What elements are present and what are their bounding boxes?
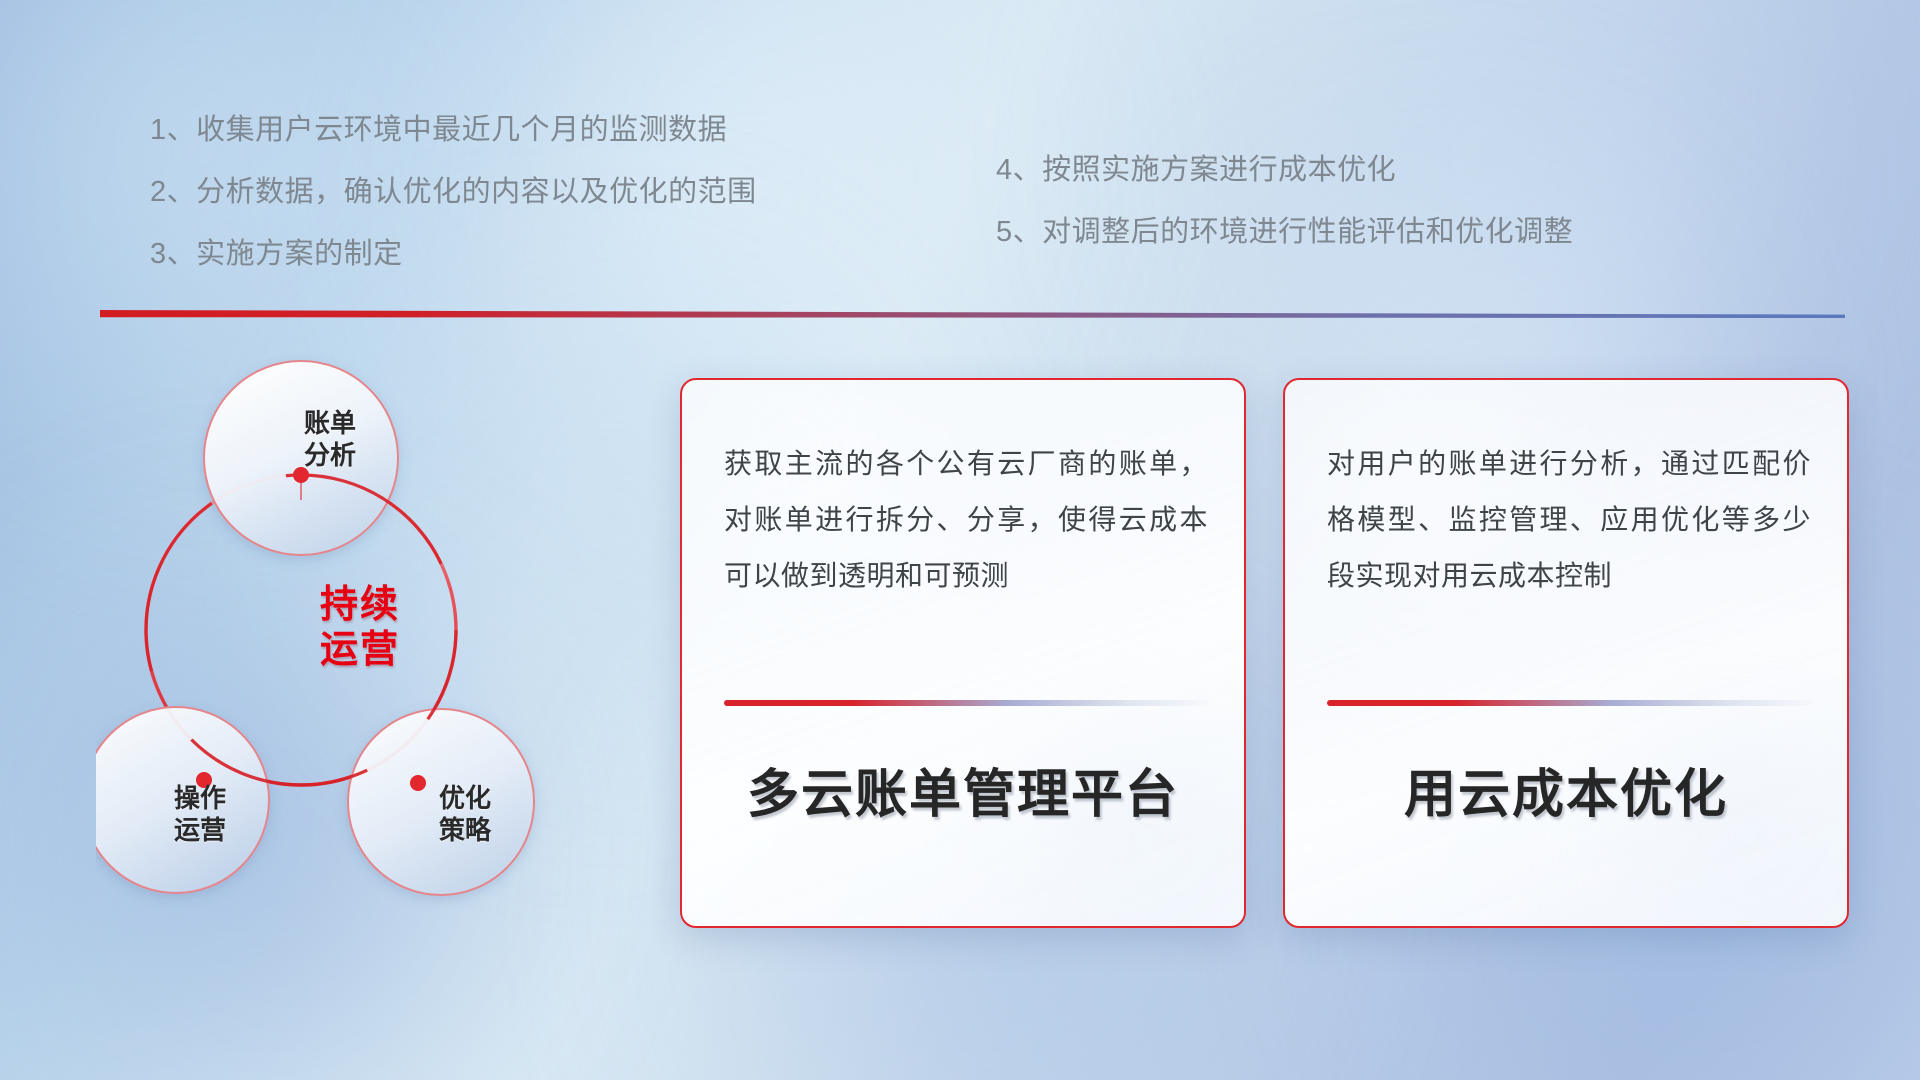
venn-label-top-line1: 账单: [250, 408, 410, 440]
steps-list-left: 1、收集用户云环境中最近几个月的监测数据 2、分析数据，确认优化的内容以及优化的…: [150, 116, 757, 269]
venn-center-label-line2: 运营: [260, 628, 460, 673]
venn-label-top: 账单 分析: [250, 408, 410, 471]
venn-label-top-line2: 分析: [250, 440, 410, 472]
venn-label-left-line2: 运营: [120, 815, 280, 847]
card-title: 用云成本优化: [1285, 752, 1847, 827]
venn-label-left-line1: 操作: [120, 783, 280, 815]
venn-label-right-line1: 优化: [385, 783, 545, 815]
venn-label-left: 操作 运营: [120, 783, 280, 846]
venn-center-label: 持续 运营: [260, 583, 460, 673]
card-description: 获取主流的各个公有云厂商的账单，对账单进行拆分、分享，使得云成本可以做到透明和可…: [724, 436, 1208, 604]
card-description: 对用户的账单进行分析，通过匹配价格模型、监控管理、应用优化等多少段实现对用云成本…: [1327, 436, 1811, 604]
section-divider: [100, 309, 1845, 318]
steps-list-right: 4、按照实施方案进行成本优化 5、对调整后的环境进行性能评估和优化调整: [996, 156, 1573, 247]
step-item: 2、分析数据，确认优化的内容以及优化的范围: [150, 178, 757, 207]
feature-card-billing-platform[interactable]: 获取主流的各个公有云厂商的账单，对账单进行拆分、分享，使得云成本可以做到透明和可…: [680, 378, 1246, 928]
slide-canvas: 1、收集用户云环境中最近几个月的监测数据 2、分析数据，确认优化的内容以及优化的…: [0, 0, 1920, 1080]
card-title: 多云账单管理平台: [682, 752, 1244, 827]
step-item: 5、对调整后的环境进行性能评估和优化调整: [996, 218, 1573, 247]
venn-label-right: 优化 策略: [385, 783, 545, 846]
card-accent-rule: [1327, 700, 1817, 706]
venn-label-right-line2: 策略: [385, 815, 545, 847]
venn-center-label-line1: 持续: [260, 583, 460, 628]
step-item: 4、按照实施方案进行成本优化: [996, 156, 1573, 185]
feature-card-cost-optimization[interactable]: 对用户的账单进行分析，通过匹配价格模型、监控管理、应用优化等多少段实现对用云成本…: [1283, 378, 1849, 928]
step-item: 3、实施方案的制定: [150, 240, 757, 269]
step-item: 1、收集用户云环境中最近几个月的监测数据: [150, 116, 757, 145]
card-accent-rule: [724, 700, 1214, 706]
